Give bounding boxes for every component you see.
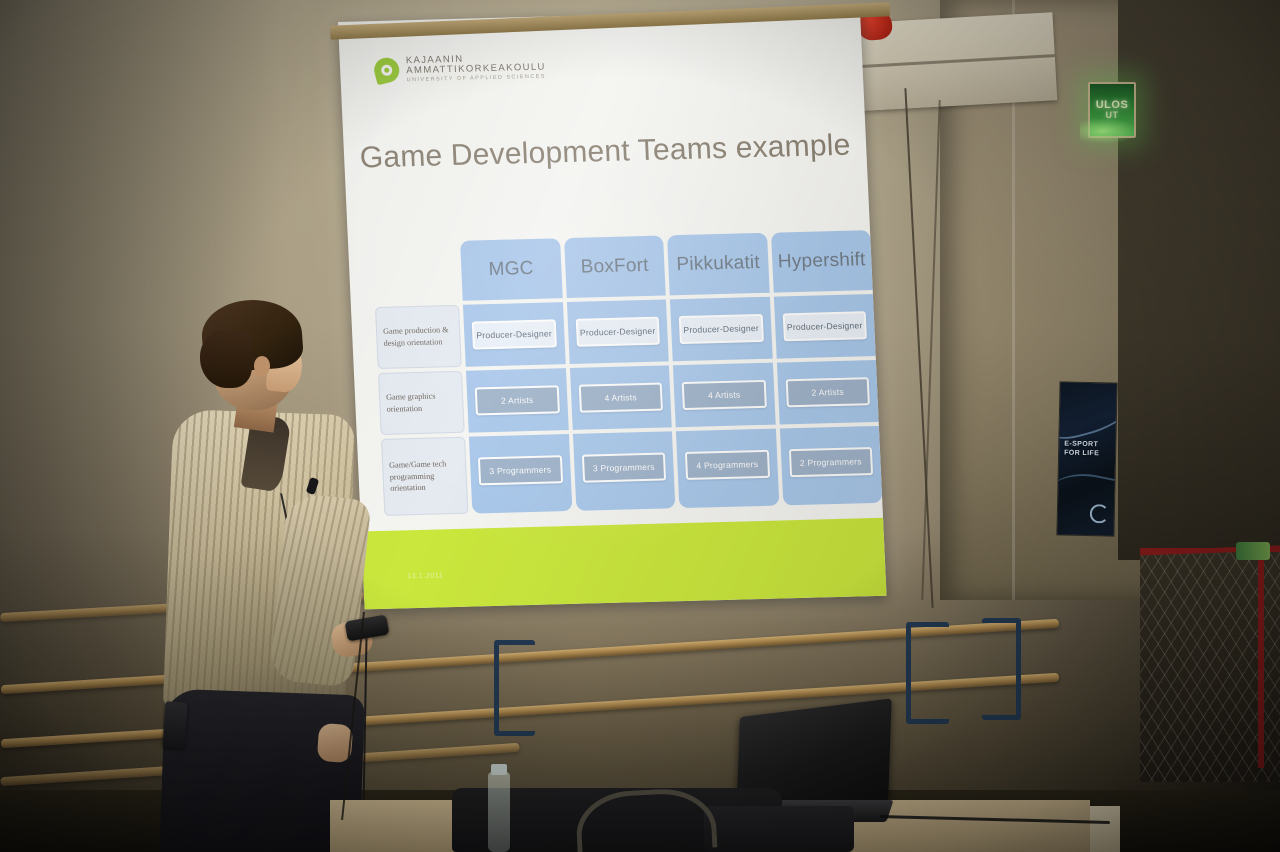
- leaf-logo-icon: [371, 55, 402, 85]
- poster-line1: E-SPORT: [1064, 441, 1099, 450]
- presenter: [150, 300, 410, 852]
- table-cell: Producer-Designer: [670, 297, 772, 362]
- table-corner-spacer: [372, 241, 459, 303]
- table-cell: 2 Artists: [776, 360, 878, 425]
- water-bottle: [488, 772, 510, 852]
- rail-bracket: [982, 618, 1021, 720]
- poster-swoosh-icon: [1056, 381, 1117, 443]
- table-column-header: Pikkukatit: [667, 233, 769, 296]
- table-column-header: Hypershift: [771, 230, 873, 293]
- presentation-slide: KAJAANIN AMMATTIKORKEAKOULU UNIVERSITY O…: [338, 8, 887, 609]
- slide-title: Game Development Teams example: [343, 128, 866, 176]
- exit-sign: ULOS UT: [1088, 82, 1136, 138]
- equipment-bag-secondary: [704, 806, 854, 852]
- role-chip: Producer-Designer: [679, 314, 764, 344]
- role-chip: 2 Artists: [785, 377, 870, 407]
- goal-post: [1258, 548, 1264, 768]
- table-cell: 4 Artists: [569, 365, 671, 430]
- table-cell: 3 Programmers: [572, 431, 675, 511]
- role-chip: Producer-Designer: [575, 317, 660, 347]
- table-cell: 4 Programmers: [676, 429, 779, 509]
- role-chip: 3 Programmers: [581, 453, 666, 483]
- role-chip: Producer-Designer: [472, 319, 557, 349]
- teams-table: MGCBoxFortPikkukatitHypershiftGame produ…: [372, 231, 864, 516]
- microphone-beltpack: [162, 701, 187, 748]
- poster-line2: FOR LIFE: [1064, 449, 1099, 458]
- water-bottle-cap: [491, 764, 507, 775]
- role-chip: 4 Artists: [682, 380, 767, 410]
- dark-wall-panel: [1118, 0, 1280, 560]
- poster-text: E-SPORT FOR LIFE: [1064, 441, 1099, 459]
- university-logo: KAJAANIN AMMATTIKORKEAKOULU UNIVERSITY O…: [374, 53, 547, 85]
- photo-scene: ULOS UT E-SPORT FOR LIFE: [0, 0, 1280, 852]
- slide-footer-note: 13.1.2011: [407, 572, 443, 580]
- presenter-ear: [254, 356, 270, 376]
- esport-poster: E-SPORT FOR LIFE: [1056, 381, 1117, 536]
- table-cell: 2 Programmers: [779, 426, 882, 506]
- rail-bracket: [494, 640, 535, 736]
- poster-swoosh-icon-2: [1056, 467, 1117, 535]
- table-cell: 2 Artists: [466, 368, 568, 433]
- projection-screen: KAJAANIN AMMATTIKORKEAKOULU UNIVERSITY O…: [338, 8, 887, 609]
- role-chip: 2 Programmers: [788, 447, 873, 477]
- table-column-header: BoxFort: [564, 236, 666, 299]
- table-cell: Producer-Designer: [774, 294, 876, 359]
- rail-bracket: [906, 622, 949, 724]
- slide-footer-band: 13.1.2011: [361, 518, 886, 610]
- table-cell: Producer-Designer: [463, 302, 565, 367]
- role-chip: 4 Programmers: [685, 450, 770, 480]
- table-cell: 4 Artists: [673, 363, 775, 428]
- role-chip: 3 Programmers: [478, 455, 563, 485]
- table-column-header: MGC: [460, 238, 562, 301]
- role-chip: 2 Artists: [475, 385, 560, 415]
- table-cell: 3 Programmers: [469, 434, 572, 514]
- exit-sign-line2: UT: [1106, 111, 1119, 120]
- presenter-hair-side: [200, 330, 252, 388]
- role-chip: Producer-Designer: [782, 311, 867, 341]
- role-chip: 4 Artists: [578, 383, 663, 413]
- table-cell: Producer-Designer: [566, 299, 668, 364]
- goal-clip: [1236, 542, 1270, 560]
